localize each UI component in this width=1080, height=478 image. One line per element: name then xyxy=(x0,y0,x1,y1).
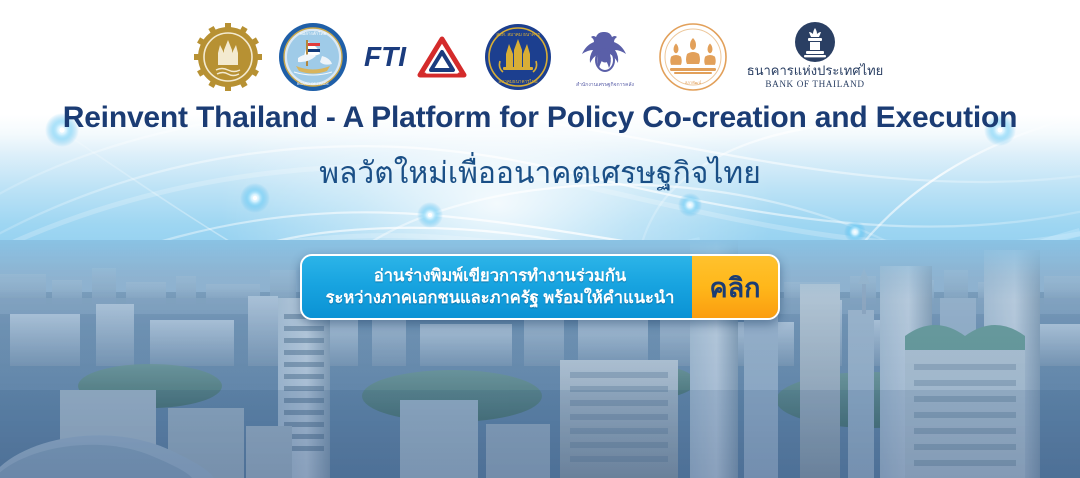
logo-thai-bankers-association: สธท. สมาคม ธนาคาร สมาคมธนาคารไทย xyxy=(484,23,552,91)
cta-message[interactable]: อ่านร่างพิมพ์เขียวการทำงานร่วมกัน ระหว่า… xyxy=(302,256,692,318)
banner-title-english: Reinvent Thailand - A Platform for Polic… xyxy=(0,101,1080,135)
board-of-trade-seal-icon: หอการค้าไทย BOARD OF TRADE xyxy=(278,22,348,92)
promo-banner: หอการค้าไทย BOARD OF TRADE FTI xyxy=(0,0,1080,478)
partner-logo-row: หอการค้าไทย BOARD OF TRADE FTI xyxy=(0,18,1080,96)
svg-text:สภาพัฒน์: สภาพัฒน์ xyxy=(685,80,702,85)
bank-of-thailand-logo-icon: ธนาคารแห่งประเทศไทย BANK OF THAILAND xyxy=(744,21,886,93)
read-blueprint-cta-button[interactable]: อ่านร่างพิมพ์เขียวการทำงานร่วมกัน ระหว่า… xyxy=(300,254,780,320)
bank-of-thailand-name-th: ธนาคารแห่งประเทศไทย xyxy=(747,63,884,78)
gear-emblem-icon xyxy=(194,23,262,91)
logo-ministry-of-industry xyxy=(194,23,262,91)
logo-fiscal-policy-office: สำนักงานเศรษฐกิจการคลัง xyxy=(568,22,642,92)
logo-fti: FTI xyxy=(364,34,468,80)
svg-text:สมาคมธนาคารไทย: สมาคมธนาคารไทย xyxy=(498,78,537,84)
cta-click-label[interactable]: คลิก xyxy=(692,256,778,318)
svg-text:หอการค้าไทย: หอการค้าไทย xyxy=(300,31,327,36)
cta-line-2: ระหว่างภาคเอกชนและภาครัฐ พร้อมให้คำแนะนำ xyxy=(326,287,675,309)
logo-bank-of-thailand: ธนาคารแห่งประเทศไทย BANK OF THAILAND xyxy=(744,21,886,93)
cta-line-1: อ่านร่างพิมพ์เขียวการทำงานร่วมกัน xyxy=(374,265,626,287)
banner-title-thai: พลวัตใหม่เพื่ออนาคตเศรษฐกิจไทย xyxy=(0,150,1080,197)
svg-text:สำนักงานเศรษฐกิจการคลัง: สำนักงานเศรษฐกิจการคลัง xyxy=(576,81,634,88)
logo-board-of-trade-of-thailand: หอการค้าไทย BOARD OF TRADE xyxy=(278,22,348,92)
fti-logo-icon: FTI xyxy=(364,34,468,80)
thai-bankers-seal-icon: สธท. สมาคม ธนาคาร สมาคมธนาคารไทย xyxy=(484,23,552,91)
svg-text:BOARD OF TRADE: BOARD OF TRADE xyxy=(297,82,329,86)
svg-text:FTI: FTI xyxy=(364,41,407,72)
svg-text:สธท. สมาคม ธนาคาร: สธท. สมาคม ธนาคาร xyxy=(496,32,540,37)
logo-nesdc: สภาพัฒน์ xyxy=(658,22,728,92)
bank-of-thailand-name-en: BANK OF THAILAND xyxy=(765,79,864,89)
nesdc-seal-icon: สภาพัฒน์ xyxy=(658,22,728,92)
garuda-emblem-icon: สำนักงานเศรษฐกิจการคลัง xyxy=(568,22,642,92)
